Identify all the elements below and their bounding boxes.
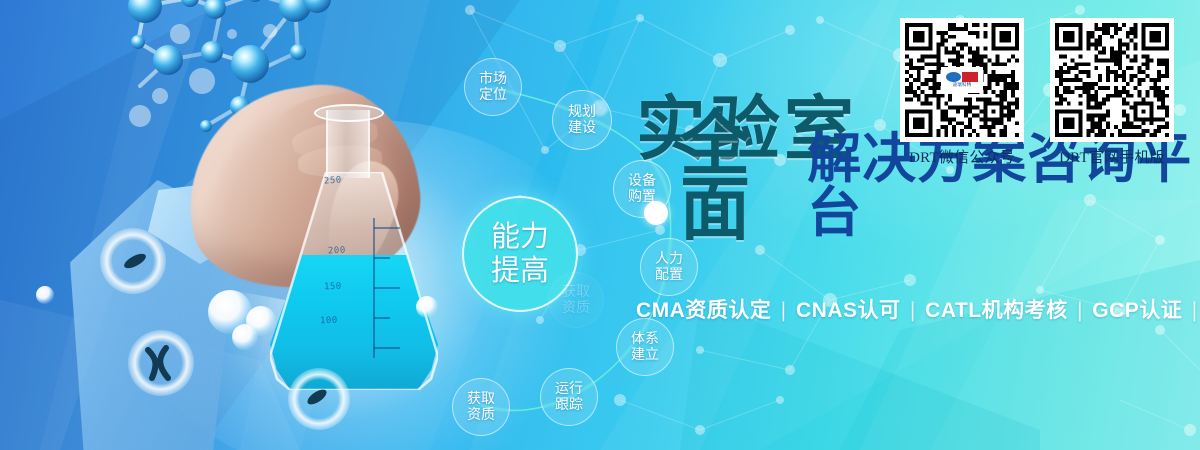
flask-graduation-200: 200 xyxy=(328,246,346,257)
bullet-dot-icon xyxy=(644,201,668,225)
bubble-obtain-qualification[interactable]: 获取 资质 xyxy=(452,378,510,436)
bubble-operation-tracking-line1: 运行 xyxy=(555,381,583,397)
logo-oval-icon xyxy=(946,72,961,82)
cert-sep-0: | xyxy=(778,299,790,322)
cert-item-1: CNAS认可 xyxy=(796,299,901,322)
bokeh-rod-1 xyxy=(120,248,150,279)
bubble-ghost-duplicate: 获取 资质 xyxy=(548,272,604,328)
bubble-system-establishment-line1: 体系 xyxy=(631,331,659,347)
qr-center-logo-drt: 迪瑞科特 xyxy=(941,67,983,93)
bubble-system-establishment-line2: 建立 xyxy=(631,347,659,363)
qr-code-wechat[interactable]: 迪瑞科特 xyxy=(900,18,1024,142)
bubble-ghost-line1: 获取 xyxy=(562,284,590,300)
flask-graduation-150: 150 xyxy=(324,282,342,293)
bubble-capability-improvement-line1: 能力 xyxy=(491,220,549,254)
cert-item-0: CMA资质认定 xyxy=(636,299,771,322)
bubble-operation-tracking[interactable]: 运行 跟踪 xyxy=(540,368,598,426)
qr-code-mobile-site[interactable] xyxy=(1050,18,1174,142)
bokeh-rod-2 xyxy=(302,384,332,415)
flask-graduation-100: 100 xyxy=(320,316,338,327)
bubble-ghost-line2: 资质 xyxy=(562,300,590,316)
flask-lip xyxy=(314,104,384,122)
erlenmeyer-flask: 250 200 150 100 xyxy=(262,110,452,400)
qr-code-zone: 迪瑞科特 DRT微信公众号 DRT官网手机版 xyxy=(900,18,1192,167)
flask-outline xyxy=(270,172,438,390)
flare-atom-3 xyxy=(232,324,258,350)
bubble-market-positioning-line2: 定位 xyxy=(479,87,507,103)
flask-graduation-250: 250 xyxy=(324,175,342,186)
headline-emphasis: 全面 xyxy=(680,112,807,244)
qr-logo-text: 迪瑞科特 xyxy=(953,83,972,88)
bubble-obtain-qualification-line1: 获取 xyxy=(467,391,495,407)
bubble-human-resources-line1: 人力 xyxy=(655,251,683,267)
certification-list: CMA资质认定 | CNAS认可 | CATL机构考核 | GCP认证 | 6S… xyxy=(636,294,1196,324)
qr-code-mobile-site-matrix xyxy=(1055,23,1169,137)
qr-block-mobile-site[interactable]: DRT官网手机版 xyxy=(1050,18,1174,167)
qr-block-wechat[interactable]: 迪瑞科特 DRT微信公众号 xyxy=(900,18,1024,167)
bubble-operation-tracking-line2: 跟踪 xyxy=(555,397,583,413)
bubble-planning-construction-line2: 建设 xyxy=(568,120,596,136)
logo-red-block-icon xyxy=(962,72,978,82)
bubble-planning-construction-line1: 规划 xyxy=(568,104,596,120)
bubble-planning-construction[interactable]: 规划 建设 xyxy=(552,90,612,150)
qr-caption-mobile-site: DRT官网手机版 xyxy=(1050,146,1174,167)
headline-line-2: 全面 解决方案咨询平台 xyxy=(636,169,1196,243)
cert-sep-1: | xyxy=(907,299,919,322)
cert-sep-2: | xyxy=(1074,299,1086,322)
qr-caption-wechat: DRT微信公众号 xyxy=(900,146,1024,167)
flare-atom-5 xyxy=(36,286,54,304)
cert-item-3: GCP认证 xyxy=(1092,299,1182,322)
bubble-system-establishment[interactable]: 体系 建立 xyxy=(616,318,674,376)
bubble-capability-improvement-line2: 提高 xyxy=(491,254,549,288)
bubble-market-positioning-line1: 市场 xyxy=(479,71,507,87)
flare-atom-4 xyxy=(416,296,438,318)
bubble-obtain-qualification-line2: 资质 xyxy=(467,407,495,423)
cert-item-2: CATL机构考核 xyxy=(925,299,1067,322)
bubble-human-resources-line2: 配置 xyxy=(655,267,683,283)
bubble-market-positioning[interactable]: 市场 定位 xyxy=(464,58,522,116)
cert-sep-3: | xyxy=(1189,299,1200,322)
lab-solution-banner: 250 200 150 100 市场 定位 规划 建设 设备 购置 人力 配置 xyxy=(0,0,1200,450)
bokeh-chromosome xyxy=(140,344,182,389)
